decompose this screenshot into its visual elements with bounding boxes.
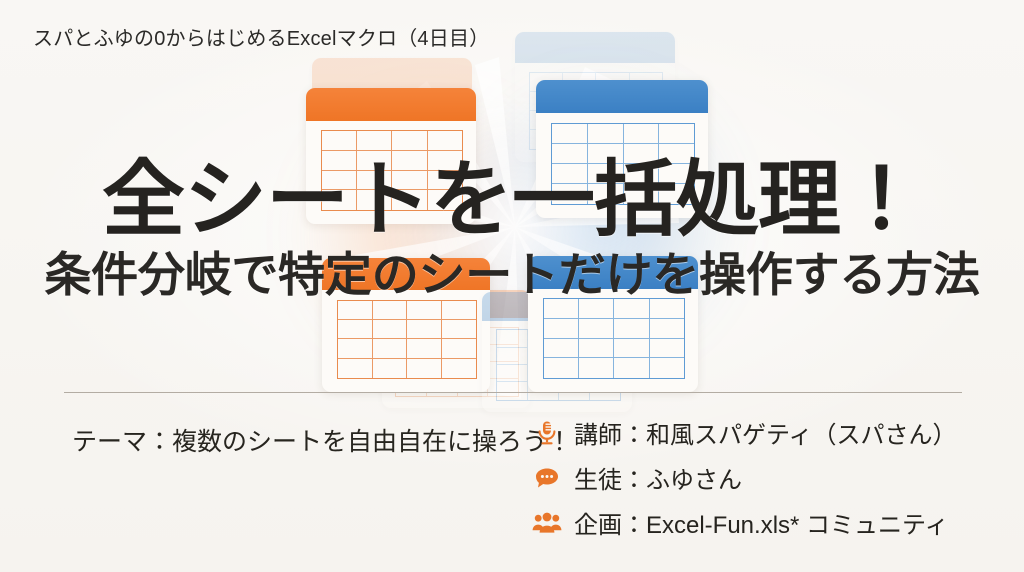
footer-block: テーマ：複数のシートを自由自在に操ろう！ 講師：和風スパゲティ（スパさん）: [0, 406, 1024, 556]
credit-row-organizer: 企画：Excel-Fun.xls* コミュニティ: [530, 500, 957, 545]
card-grid: [337, 300, 477, 380]
credits-list: 講師：和風スパゲティ（スパさん） 生徒：ふゆさん: [530, 410, 957, 545]
card-header-bar: [536, 80, 708, 113]
hero-title: 全シートを一括処理！: [0, 158, 1024, 241]
credit-row-instructor: 講師：和風スパゲティ（スパさん）: [530, 410, 957, 455]
speech-bubble-icon: [530, 463, 564, 493]
theme-label: テーマ：複数のシートを自由自在に操ろう！: [72, 422, 572, 458]
microphone-icon: [530, 418, 564, 448]
credit-text-instructor: 講師：和風スパゲティ（スパさん）: [574, 415, 957, 450]
hero-text-block: 全シートを一括処理！ 条件分岐で特定のシートだけを操作する方法: [0, 158, 1024, 300]
hero-subtitle: 条件分岐で特定のシートだけを操作する方法: [0, 251, 1024, 300]
credit-row-student: 生徒：ふゆさん: [530, 455, 957, 500]
credit-text-student: 生徒：ふゆさん: [574, 460, 742, 495]
card-grid: [543, 298, 684, 379]
footer-divider: [64, 392, 962, 393]
card-header-bar: [312, 58, 472, 89]
card-header-bar: [306, 88, 476, 121]
credit-text-organizer: 企画：Excel-Fun.xls* コミュニティ: [574, 505, 949, 540]
slide-canvas: スパとふゆの0からはじめるExcelマクロ（4日目）: [0, 0, 1024, 572]
card-header-bar: [515, 32, 675, 63]
people-group-icon: [530, 508, 564, 538]
